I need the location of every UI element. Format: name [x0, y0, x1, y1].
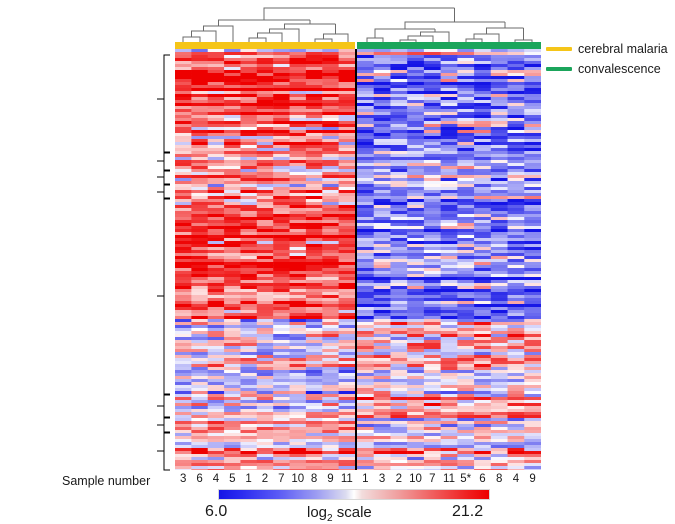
sample-number-right-9: 4: [513, 473, 519, 485]
legend-swatch-cerebral-malaria: [546, 47, 572, 51]
sample-number-left-10: 11: [341, 473, 353, 485]
sample-number-left-3: 5: [229, 473, 235, 485]
sample-number-left-5: 2: [262, 473, 268, 485]
group-bar-convalescence: [357, 42, 541, 49]
legend-label-convalescence: convalescence: [578, 62, 661, 76]
sample-number-left-1: 6: [196, 473, 202, 485]
sample-number-right-8: 8: [496, 473, 502, 485]
sample-number-left-0: 3: [180, 473, 186, 485]
row-category-labels: Amino AcidsCarbohydratesCofactors/Vitami…: [0, 0, 152, 524]
sample-number-left-2: 4: [213, 473, 219, 485]
sample-number-right-3: 10: [409, 473, 422, 485]
colorbar-label-suffix: scale: [333, 504, 372, 521]
sample-number-row: 3645127108911132107115*6849: [0, 473, 675, 489]
legend-label-cerebral-malaria: cerebral malaria: [578, 42, 668, 56]
sample-number-right-10: 9: [529, 473, 535, 485]
row-category-brackets: [148, 45, 178, 475]
sample-number-right-6: 5*: [460, 473, 471, 485]
sample-number-left-8: 8: [311, 473, 317, 485]
colorbar-label-prefix: log: [307, 504, 327, 521]
sample-number-right-0: 1: [362, 473, 368, 485]
sample-number-left-7: 10: [291, 473, 304, 485]
sample-number-right-1: 3: [379, 473, 385, 485]
sample-number-right-7: 6: [479, 473, 485, 485]
sample-number-left-9: 9: [327, 473, 333, 485]
colorbar-axis-label: log2 scale: [307, 504, 372, 524]
heatmap-panel: [175, 49, 541, 470]
sample-number-right-5: 11: [443, 473, 455, 485]
group-divider-line: [355, 49, 357, 470]
sample-number-left-4: 1: [245, 473, 251, 485]
colorbar-min-label: 6.0: [205, 503, 227, 521]
colorbar-max-label: 21.2: [452, 503, 483, 521]
sample-number-right-4: 7: [429, 473, 435, 485]
legend-item-cerebral-malaria: cerebral malaria: [546, 40, 675, 57]
heatmap-canvas: [175, 49, 541, 470]
group-legend: cerebral malaria convalescence: [546, 40, 675, 80]
figure-root: Amino AcidsCarbohydratesCofactors/Vitami…: [0, 0, 675, 524]
legend-swatch-convalescence: [546, 67, 572, 71]
legend-item-convalescence: convalescence: [546, 60, 675, 77]
colorbar-gradient: [218, 489, 490, 500]
sample-number-left-6: 7: [278, 473, 284, 485]
sample-number-right-2: 2: [396, 473, 402, 485]
group-bar-cerebral-malaria: [175, 42, 355, 49]
